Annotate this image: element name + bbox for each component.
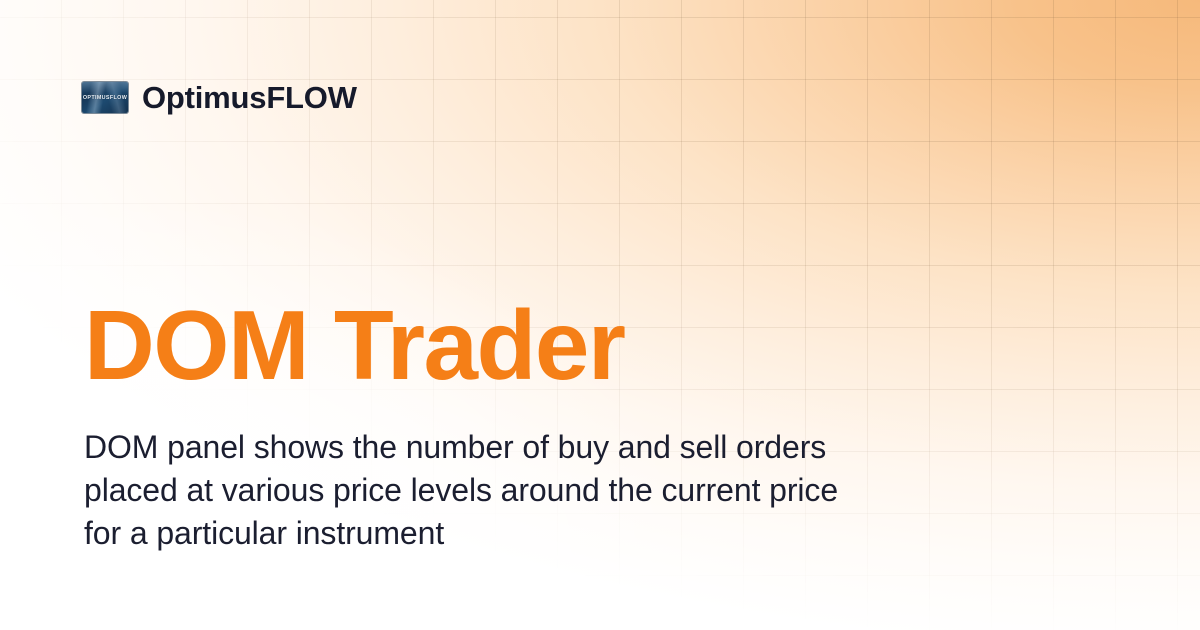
logo-wordmark-text: OPTIMUSFLOW bbox=[82, 95, 128, 101]
page-title: DOM Trader bbox=[84, 296, 624, 394]
brand-name: OptimusFLOW bbox=[142, 82, 357, 113]
optimusflow-logo-icon: OPTIMUSFLOW bbox=[82, 82, 128, 113]
page-description: DOM panel shows the number of buy and se… bbox=[84, 426, 874, 555]
card-content: OPTIMUSFLOW OptimusFLOW DOM Trader DOM p… bbox=[0, 0, 1200, 630]
og-card: OPTIMUSFLOW OptimusFLOW DOM Trader DOM p… bbox=[0, 0, 1200, 630]
brand-lockup: OPTIMUSFLOW OptimusFLOW bbox=[82, 82, 357, 113]
